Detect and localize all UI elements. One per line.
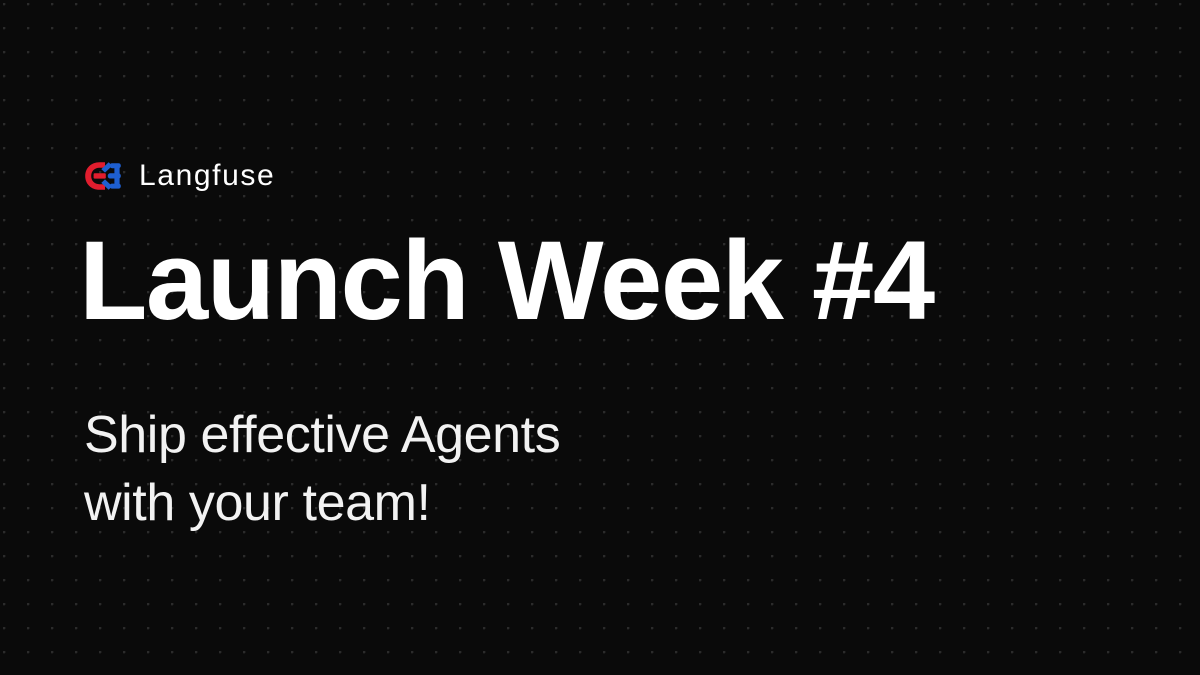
hero-subtitle-line-2: with your team! [84,470,560,538]
brand-lockup: Langfuse [84,157,275,195]
page-title: Launch Week #4 [79,222,934,341]
brand-wordmark: Langfuse [139,161,275,191]
hero-subtitle-line-1: Ship effective Agents [84,402,560,470]
langfuse-logo-mark-icon [84,161,122,191]
content-block: Langfuse Launch Week #4 Ship effective A… [84,0,1144,675]
promo-banner: Langfuse Launch Week #4 Ship effective A… [0,0,1200,675]
hero-subtitle: Ship effective Agents with your team! [84,402,560,537]
